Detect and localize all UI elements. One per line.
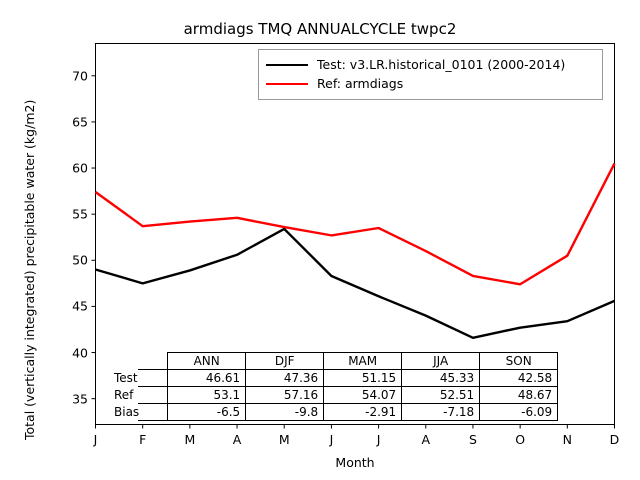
table-cell: 53.1 (168, 387, 246, 404)
x-tick-label: F (128, 432, 158, 447)
y-tick-label: 50 (48, 253, 88, 268)
x-tick-label: M (175, 432, 205, 447)
y-tick-marks (92, 76, 96, 399)
y-tick-label: 35 (48, 391, 88, 406)
table-cell: -6.09 (480, 404, 558, 421)
legend-item-ref: Ref: armdiags (266, 74, 595, 93)
table-cell: -2.91 (324, 404, 402, 421)
legend-item-test: Test: v3.LR.historical_0101 (2000-2014) (266, 55, 595, 74)
x-tick-label: N (552, 432, 582, 447)
table-cell: -9.8 (246, 404, 324, 421)
table-cell: 45.33 (402, 370, 480, 387)
series-line-test (96, 229, 615, 338)
table-cell: 48.67 (480, 387, 558, 404)
table-cell: -6.5 (168, 404, 246, 421)
legend-swatch-ref (266, 83, 308, 85)
y-tick-label: 45 (48, 299, 88, 314)
table-cell: -7.18 (402, 404, 480, 421)
x-tick-label: D (600, 432, 630, 447)
legend-label-ref: Ref: armdiags (317, 76, 403, 91)
x-tick-label: J (316, 432, 346, 447)
y-tick-label: 70 (48, 68, 88, 83)
y-tick-label: 65 (48, 114, 88, 129)
table-row-header: Test (113, 370, 142, 387)
x-tick-label: J (81, 432, 111, 447)
table-cell: 46.61 (168, 370, 246, 387)
table-cell: 54.07 (324, 387, 402, 404)
x-tick-label: J (364, 432, 394, 447)
stats-table: ANNDJFMAMJJASON Test46.6147.3651.1545.33… (138, 352, 558, 421)
x-tick-label: S (458, 432, 488, 447)
table-row: Ref53.157.1654.0752.5148.67 (139, 387, 558, 404)
table-cell: 42.58 (480, 370, 558, 387)
table-column-header: JJA (402, 353, 480, 370)
x-tick-label: M (269, 432, 299, 447)
table-row-header: Bias (113, 404, 142, 421)
table-row: Bias-6.5-9.8-2.91-7.18-6.09 (139, 404, 558, 421)
legend-swatch-test (266, 64, 308, 66)
table-cell: 47.36 (246, 370, 324, 387)
table-cell: 52.51 (402, 387, 480, 404)
table-column-header: MAM (324, 353, 402, 370)
table-row-header: Ref (113, 387, 142, 404)
table-cell: 51.15 (324, 370, 402, 387)
x-tick-marks (96, 425, 615, 429)
table-row: Test46.6147.3651.1545.3342.58 (139, 370, 558, 387)
table-column-header: ANN (168, 353, 246, 370)
table-cell: 57.16 (246, 387, 324, 404)
table-column-header: DJF (246, 353, 324, 370)
y-tick-label: 60 (48, 161, 88, 176)
table-header-row: ANNDJFMAMJJASON (139, 353, 558, 370)
series-line-ref (96, 163, 615, 284)
x-tick-label: A (222, 432, 252, 447)
x-tick-label: O (505, 432, 535, 447)
table-corner-cell (139, 353, 168, 370)
chart-legend: Test: v3.LR.historical_0101 (2000-2014) … (258, 49, 603, 100)
y-tick-label: 40 (48, 345, 88, 360)
x-tick-label: A (411, 432, 441, 447)
table-body: Test46.6147.3651.1545.3342.58Ref53.157.1… (139, 370, 558, 421)
legend-label-test: Test: v3.LR.historical_0101 (2000-2014) (317, 57, 565, 72)
y-tick-label: 55 (48, 207, 88, 222)
table-column-header: SON (480, 353, 558, 370)
